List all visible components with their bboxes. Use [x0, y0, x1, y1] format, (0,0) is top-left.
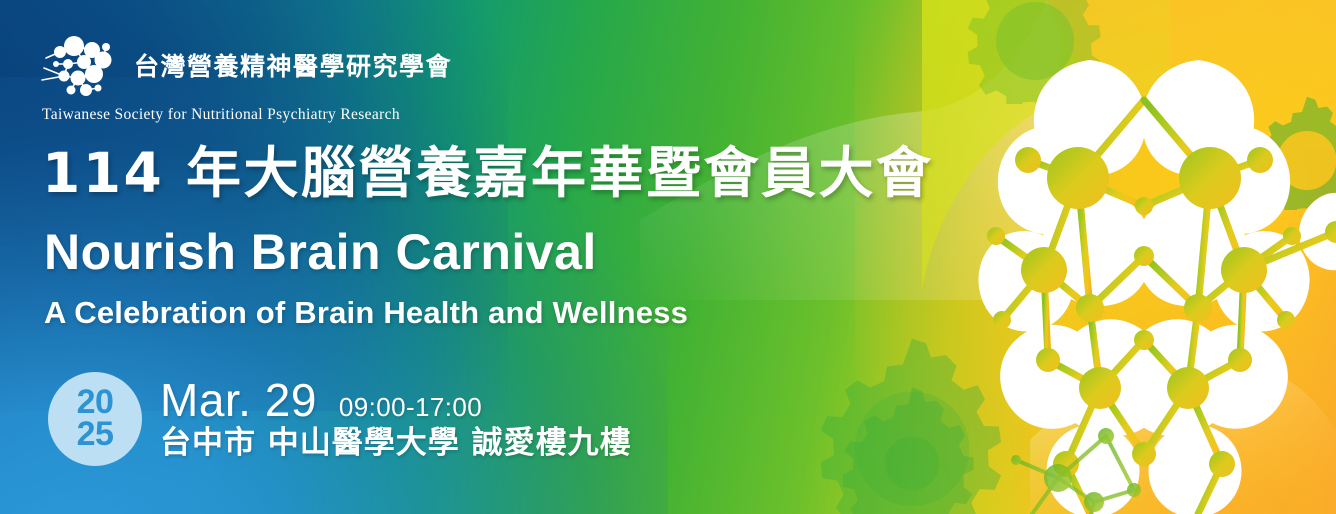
page-title-zh: 114 年大腦營養嘉年華暨會員大會: [42, 146, 933, 201]
organization-block: 台灣營養精神醫學研究學會 Taiwanese Society for Nutri…: [40, 34, 452, 124]
organization-name-zh: 台灣營養精神醫學研究學會: [134, 54, 452, 81]
year-badge: 20 25: [48, 372, 142, 466]
event-text-block: Mar. 29 09:00-17:00 台中市 中山醫學大學 誠愛樓九樓: [160, 377, 632, 462]
event-time: 09:00-17:00: [339, 394, 482, 420]
page-title-en: Nourish Brain Carnival: [44, 227, 597, 277]
organization-name-en: Taiwanese Society for Nutritional Psychi…: [42, 106, 452, 124]
event-details: 20 25 Mar. 29 09:00-17:00 台中市 中山醫學大學 誠愛樓…: [48, 372, 632, 466]
banner-content: 台灣營養精神醫學研究學會 Taiwanese Society for Nutri…: [0, 0, 1336, 514]
year-bottom: 25: [77, 419, 114, 451]
event-banner: 台灣營養精神醫學研究學會 Taiwanese Society for Nutri…: [0, 0, 1336, 514]
event-date: Mar. 29: [160, 377, 317, 423]
page-subtitle-en: A Celebration of Brain Health and Wellne…: [44, 297, 688, 328]
organization-row: 台灣營養精神醫學研究學會: [40, 34, 452, 100]
event-venue: 台中市 中山醫學大學 誠愛樓九樓: [160, 425, 632, 462]
event-date-row: Mar. 29 09:00-17:00: [160, 377, 632, 423]
brain-network-logo-icon: [40, 34, 126, 100]
